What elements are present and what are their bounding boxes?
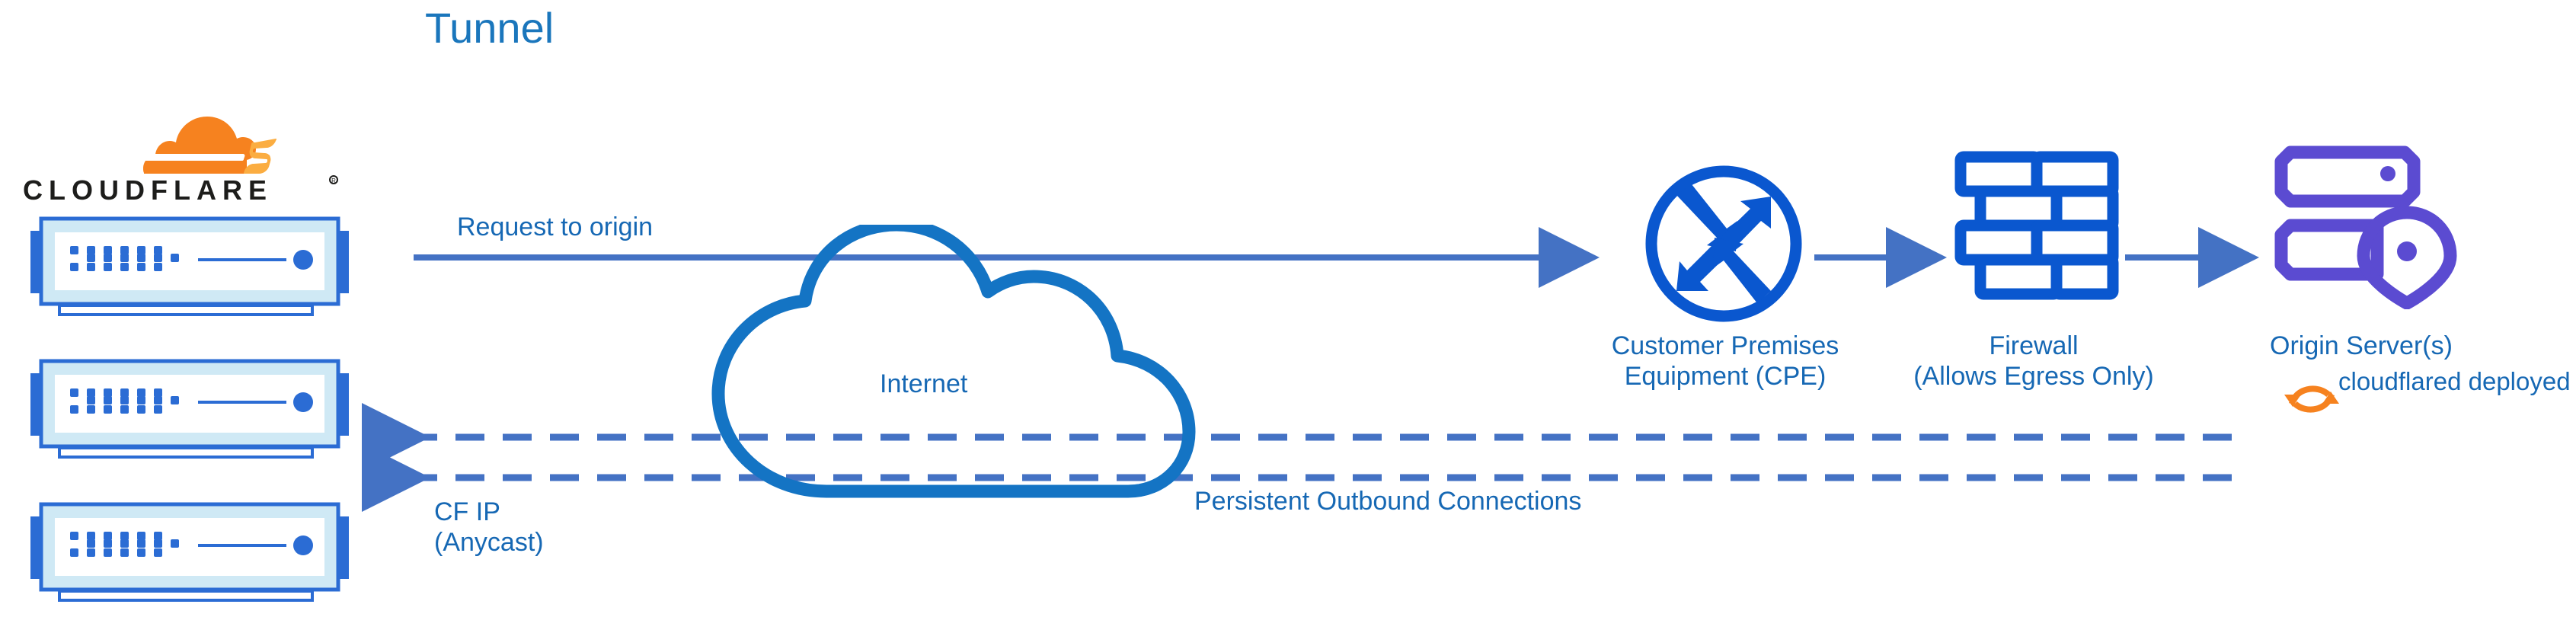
- connector-layer: [0, 0, 2576, 617]
- router-four-arrows-icon: [1641, 161, 1806, 326]
- brick-wall-icon: [1951, 149, 2119, 309]
- cf-ip-label: CF IP(Anycast): [434, 497, 544, 558]
- cf-ip-label-line2: (Anycast): [434, 528, 544, 557]
- cpe-label: Customer PremisesEquipment (CPE): [1561, 331, 1889, 392]
- cloudflared-refresh: [2281, 369, 2342, 430]
- request-to-origin-label: Request to origin: [457, 212, 653, 242]
- origin-server-node: [2274, 142, 2464, 309]
- cpe-node: [1641, 161, 1806, 326]
- firewall-label-line1: Firewall: [1989, 331, 2078, 360]
- internet-cloud: [697, 225, 1207, 507]
- firewall-label-line2: (Allows Egress Only): [1913, 362, 2154, 391]
- cloud-icon: [697, 225, 1207, 507]
- origin-servers-label: Origin Server(s): [2270, 331, 2453, 361]
- persistent-outbound-label: Persistent Outbound Connections: [1194, 486, 1581, 516]
- cloudflared-note: cloudflared deployed on servers: [2338, 367, 2529, 397]
- cpe-label-line1: Customer Premises: [1612, 331, 1839, 360]
- diagram-canvas: Tunnel CLOUDFLARE R: [0, 0, 2576, 617]
- server-stack-pin-icon: [2274, 142, 2464, 309]
- firewall-node: [1951, 149, 2119, 309]
- circular-arrows-icon: [2281, 369, 2342, 430]
- cpe-label-line2: Equipment (CPE): [1625, 362, 1827, 391]
- firewall-label: Firewall(Allows Egress Only): [1904, 331, 2163, 392]
- internet-label: Internet: [880, 369, 967, 399]
- cf-ip-label-line1: CF IP: [434, 497, 500, 526]
